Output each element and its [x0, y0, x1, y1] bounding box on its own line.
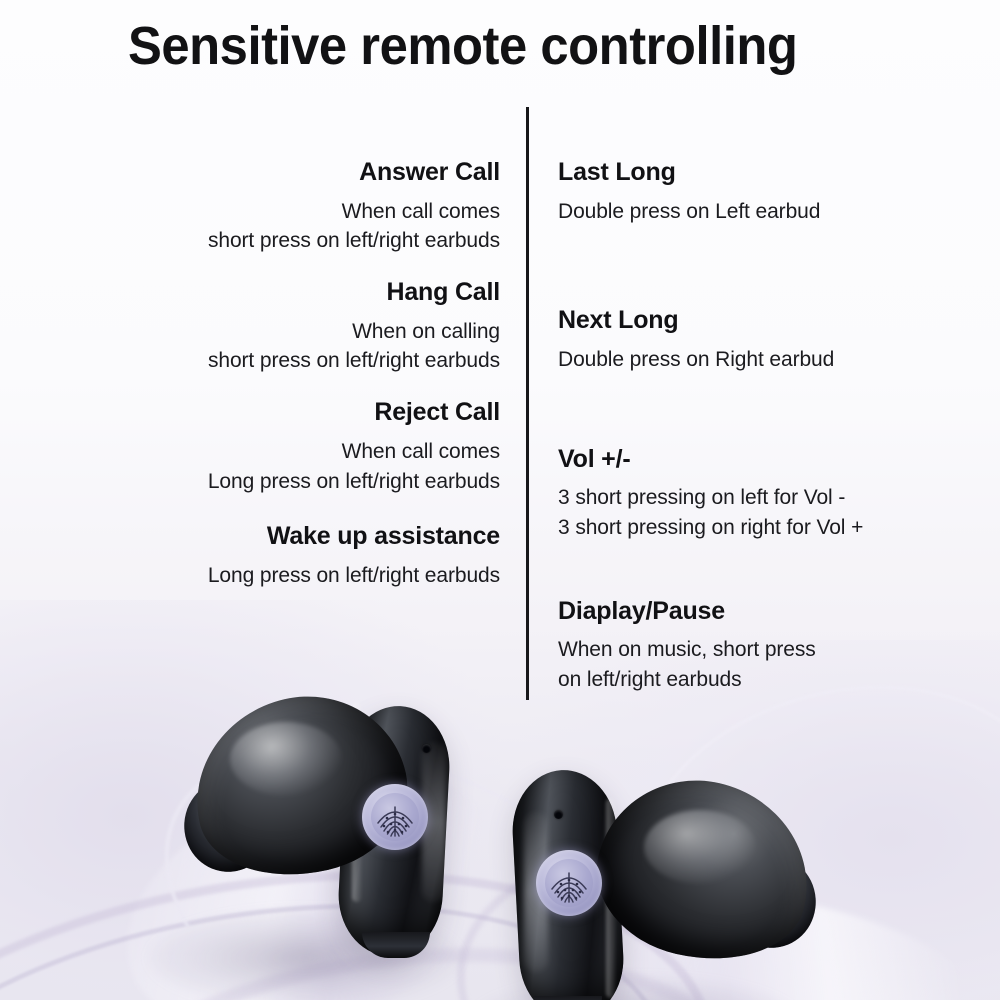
- fingerprint-icon: [545, 859, 593, 907]
- spec-detail-line: Long press on left/right earbuds: [110, 467, 500, 497]
- product-infographic: Sensitive remote controlling Answer Call…: [0, 0, 1000, 1000]
- earbud-left: [186, 676, 516, 1000]
- spec-detail-line: Double press on Right earbud: [558, 345, 970, 375]
- earbud-ear-tip-gloss: [230, 722, 342, 796]
- controls-spec-table: Answer Call When call comes short press …: [0, 150, 1000, 710]
- spec-heading: Next Long: [558, 306, 970, 336]
- spec-heading: Answer Call: [110, 158, 500, 188]
- spec-detail-line: Long press on left/right earbuds: [110, 561, 500, 591]
- spec-column-left: Answer Call When call comes short press …: [110, 150, 500, 613]
- spec-detail-line: Double press on Left earbud: [558, 197, 970, 227]
- microphone-hole-icon: [422, 744, 431, 753]
- column-divider: [526, 107, 529, 700]
- spec-heading: Diaplay/Pause: [558, 597, 970, 627]
- spec-row-last-long: Last Long Double press on Left earbud: [558, 158, 970, 226]
- spec-detail-line: short press on left/right earbuds: [110, 346, 500, 376]
- product-photo-earbuds: [0, 660, 1000, 1000]
- spec-heading: Wake up assistance: [110, 522, 500, 552]
- earbud-stem-foot: [534, 996, 602, 1000]
- spec-detail-line: When call comes: [110, 197, 500, 227]
- spec-heading: Reject Call: [110, 398, 500, 428]
- spec-row-reject-call: Reject Call When call comes Long press o…: [110, 398, 500, 496]
- spec-row-wake-up-assistance: Wake up assistance Long press on left/ri…: [110, 522, 500, 590]
- spec-row-volume: Vol +/- 3 short pressing on left for Vol…: [558, 445, 970, 543]
- spec-column-right: Last Long Double press on Left earbud Ne…: [558, 150, 970, 717]
- microphone-hole-icon: [554, 810, 563, 819]
- touch-control-pad[interactable]: [536, 850, 602, 916]
- spec-heading: Vol +/-: [558, 445, 970, 475]
- spec-detail-line: When call comes: [110, 437, 500, 467]
- spec-row-next-long: Next Long Double press on Right earbud: [558, 306, 970, 374]
- earbud-right: [494, 772, 824, 1000]
- fingerprint-icon: [371, 793, 419, 841]
- spec-detail-line: short press on left/right earbuds: [110, 226, 500, 256]
- earbud-ear-tip-gloss: [644, 810, 756, 884]
- earbud-stem-foot: [362, 932, 430, 958]
- touch-control-pad[interactable]: [362, 784, 428, 850]
- spec-row-answer-call: Answer Call When call comes short press …: [110, 158, 500, 256]
- spec-detail-line: When on calling: [110, 317, 500, 347]
- spec-heading: Hang Call: [110, 278, 500, 308]
- spec-heading: Last Long: [558, 158, 970, 188]
- spec-detail-line: 3 short pressing on right for Vol +: [558, 513, 970, 543]
- page-title: Sensitive remote controlling: [128, 16, 861, 76]
- spec-detail-line: 3 short pressing on left for Vol -: [558, 483, 970, 513]
- spec-row-hang-call: Hang Call When on calling short press on…: [110, 278, 500, 376]
